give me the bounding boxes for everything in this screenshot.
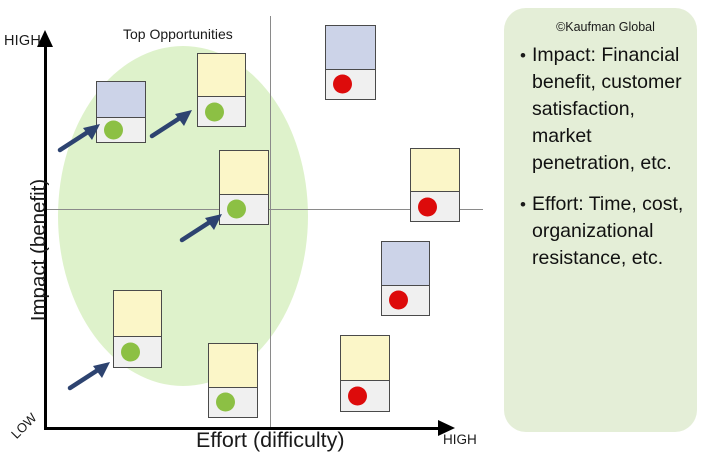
initiative-card[interactable] <box>219 150 269 225</box>
initiative-card[interactable] <box>208 343 258 418</box>
card-header-block <box>326 26 375 70</box>
x-axis-title: Effort (difficulty) <box>196 428 345 453</box>
card-header-block <box>114 291 161 337</box>
definition-text: Impact: Financial benefit, customer sati… <box>532 42 689 177</box>
green-status-dot-icon <box>227 200 246 219</box>
initiative-card[interactable] <box>325 25 376 100</box>
initiative-card[interactable] <box>340 335 390 412</box>
definition-list: •Impact: Financial benefit, customer sat… <box>514 42 689 272</box>
card-header-block <box>209 344 257 388</box>
card-status-block <box>198 97 245 126</box>
definition-item: •Effort: Time, cost, organizational resi… <box>514 191 689 272</box>
x-axis-high-label: HIGH <box>443 432 477 447</box>
card-status-block <box>114 337 161 367</box>
initiative-card[interactable] <box>410 148 460 222</box>
pointer-arrow-icon <box>68 360 114 390</box>
red-status-dot-icon <box>348 387 367 406</box>
green-status-dot-icon <box>216 393 235 412</box>
initiative-card[interactable] <box>197 53 246 127</box>
card-status-block <box>220 195 268 224</box>
copyright-label: ©Kaufman Global <box>522 20 689 34</box>
pointer-arrow-icon <box>180 212 226 242</box>
card-status-block <box>411 192 459 221</box>
quadrant-vertical-divider <box>270 16 271 428</box>
card-header-block <box>382 242 429 286</box>
definitions-panel: ©Kaufman Global •Impact: Financial benef… <box>504 8 697 432</box>
green-status-dot-icon <box>205 102 224 121</box>
bullet-icon: • <box>514 191 532 272</box>
origin-low-label: LOW <box>8 410 40 442</box>
card-status-block <box>382 286 429 315</box>
pointer-arrow-icon <box>58 122 104 152</box>
red-status-dot-icon <box>418 197 437 216</box>
card-header-block <box>341 336 389 381</box>
green-status-dot-icon <box>121 342 140 361</box>
card-header-block <box>411 149 459 192</box>
card-status-block <box>97 118 145 142</box>
red-status-dot-icon <box>389 291 408 310</box>
pointer-arrow-icon <box>150 108 196 138</box>
card-header-block <box>198 54 245 97</box>
impact-effort-matrix: HIGH LOW HIGH Impact (benefit) Effort (d… <box>0 0 495 467</box>
bullet-icon: • <box>514 42 532 177</box>
card-status-block <box>341 381 389 411</box>
card-header-block <box>220 151 268 195</box>
y-axis-high-label: HIGH <box>4 33 41 49</box>
definition-item: •Impact: Financial benefit, customer sat… <box>514 42 689 177</box>
top-opportunities-label: Top Opportunities <box>123 26 233 42</box>
y-axis-title: Impact (benefit) <box>27 145 51 355</box>
card-header-block <box>97 82 145 118</box>
red-status-dot-icon <box>333 75 352 94</box>
card-status-block <box>326 70 375 99</box>
card-status-block <box>209 388 257 417</box>
definition-text: Effort: Time, cost, organizational resis… <box>532 191 689 272</box>
initiative-card[interactable] <box>113 290 162 368</box>
green-status-dot-icon <box>104 121 123 140</box>
initiative-card[interactable] <box>381 241 430 316</box>
